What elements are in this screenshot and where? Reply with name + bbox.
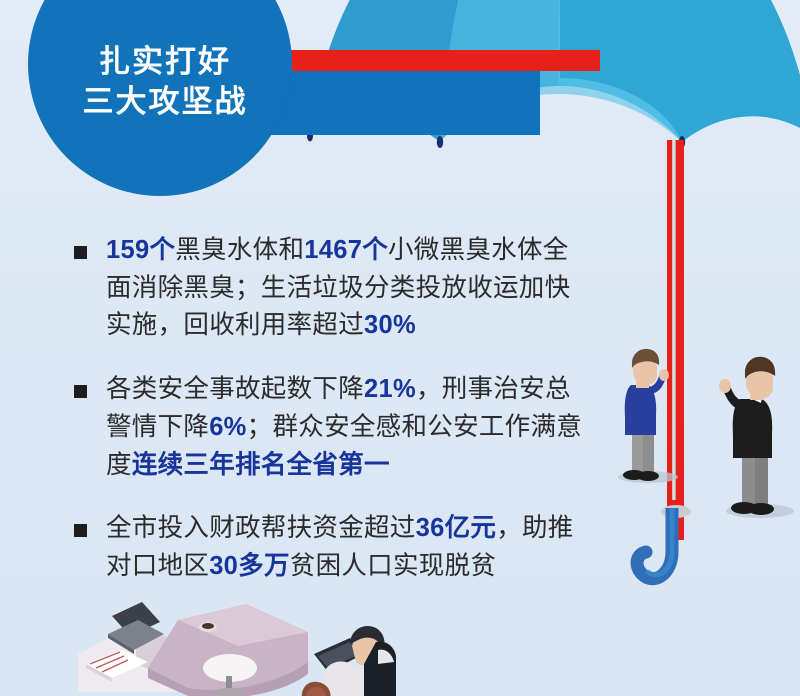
body-text-run: 各类安全事故起数下降 — [106, 375, 364, 403]
body-text-run: 贫困人口实现脱贫 — [290, 552, 496, 580]
highlighted-figure: 1467个 — [304, 236, 388, 264]
highlighted-figure: 30% — [364, 311, 416, 339]
body-text-run: 黑臭水体和 — [175, 236, 304, 264]
page-title-line-2: 三大攻坚战 — [60, 82, 270, 122]
highlighted-figure: 6% — [209, 413, 246, 441]
highlighted-figure: 21% — [364, 375, 416, 403]
highlighted-figure: 159个 — [106, 236, 175, 264]
highlighted-figure: 36亿元 — [416, 514, 497, 542]
list-item: 各类安全事故起数下降21%，刑事治安总警情下降6%；群众安全感和公安工作满意度连… — [70, 371, 590, 484]
square-bullet-icon — [74, 385, 87, 398]
infographic-poster: 扎实打好 三大攻坚战 159个黑臭水体和1467个小微黑臭水体全面消除黑臭；生活… — [0, 0, 800, 696]
standing-person-blue-jacket — [608, 345, 678, 490]
list-item: 全市投入财政帮扶资金超过36亿元，助推对口地区30多万贫困人口实现脱贫 — [70, 510, 590, 585]
bullet-text: 各类安全事故起数下降21%，刑事治安总警情下降6%；群众安全感和公安工作满意度连… — [106, 371, 590, 484]
page-title: 扎实打好 三大攻坚战 — [60, 42, 270, 121]
partial-person-silhouette — [296, 660, 356, 696]
umbrella-handle — [628, 508, 684, 594]
square-bullet-icon — [74, 524, 87, 537]
body-text-run: 全市投入财政帮扶资金超过 — [106, 514, 416, 542]
list-item: 159个黑臭水体和1467个小微黑臭水体全面消除黑臭；生活垃圾分类投放收运加快实… — [70, 232, 590, 345]
page-title-line-1: 扎实打好 — [60, 42, 270, 82]
highlighted-figure: 30多万 — [209, 552, 290, 580]
standing-person-dark-jacket — [712, 355, 796, 525]
bullet-text: 全市投入财政帮扶资金超过36亿元，助推对口地区30多万贫困人口实现脱贫 — [106, 510, 590, 585]
bullet-list: 159个黑臭水体和1467个小微黑臭水体全面消除黑臭；生活垃圾分类投放收运加快实… — [70, 232, 590, 612]
bullet-text: 159个黑臭水体和1467个小微黑臭水体全面消除黑臭；生活垃圾分类投放收运加快实… — [106, 232, 590, 345]
highlighted-figure: 连续三年排名全省第一 — [132, 451, 390, 479]
umbrella-tip — [437, 136, 443, 148]
square-bullet-icon — [74, 246, 87, 259]
